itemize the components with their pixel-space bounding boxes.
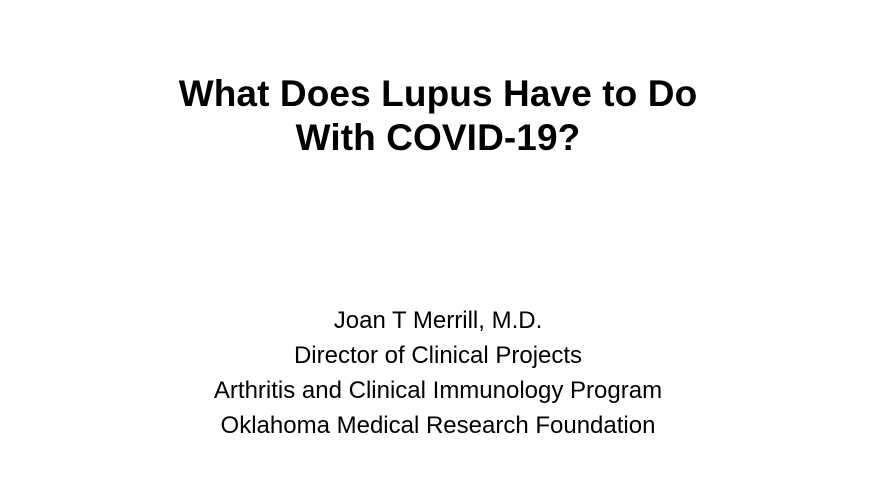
presenter-department: Arthritis and Clinical Immunology Progra… — [0, 373, 876, 408]
presenter-institution: Oklahoma Medical Research Foundation — [0, 408, 876, 443]
title-slide: What Does Lupus Have to Do With COVID-19… — [0, 0, 876, 494]
title-line-2: With COVID-19? — [0, 116, 876, 160]
presenter-name: Joan T Merrill, M.D. — [0, 303, 876, 338]
slide-title: What Does Lupus Have to Do With COVID-19… — [0, 72, 876, 160]
presenter-byline: Joan T Merrill, M.D. Director of Clinica… — [0, 303, 876, 443]
presenter-role: Director of Clinical Projects — [0, 338, 876, 373]
title-line-1: What Does Lupus Have to Do — [0, 72, 876, 116]
